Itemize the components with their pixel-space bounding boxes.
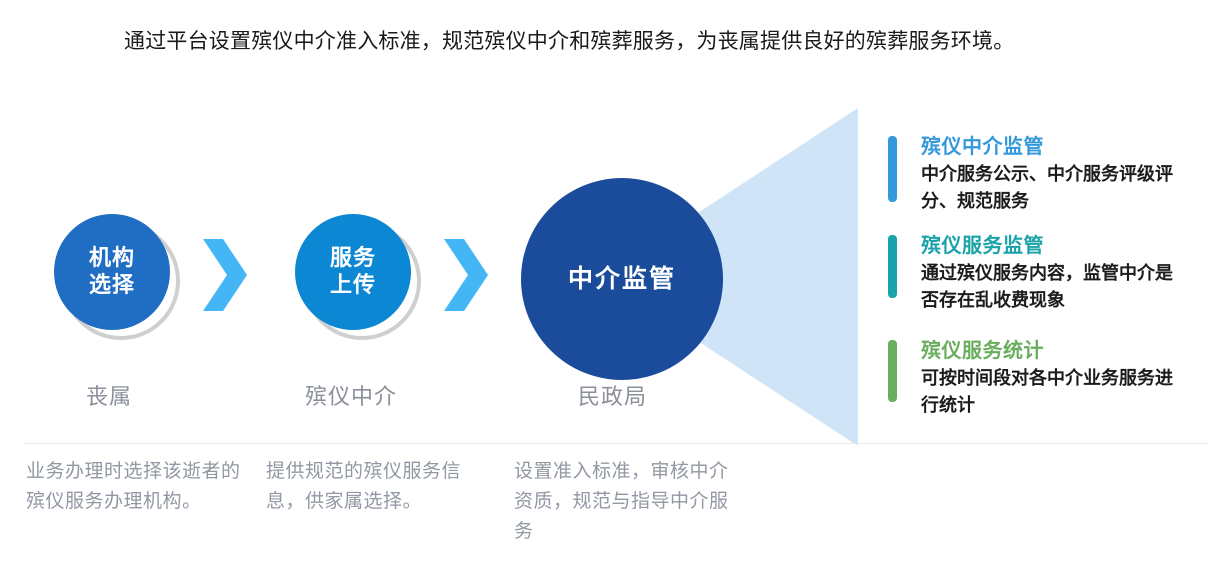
- role-label-bereaved: 丧属: [86, 379, 132, 411]
- feature-title: 殡仪服务统计: [921, 337, 1183, 363]
- role-label-funeral-agency: 殡仪中介: [305, 379, 397, 411]
- stage-circle-label-3: 中介监管: [568, 263, 676, 294]
- feature-accent-bar: [888, 235, 897, 298]
- stage-description-1: 业务办理时选择该逝者的殡仪服务办理机构。: [26, 456, 241, 516]
- feature-title: 殡仪中介监管: [921, 133, 1183, 159]
- feature-text: 可按时间段对各中介业务服务进行统计: [921, 365, 1183, 419]
- feature-title: 殡仪服务监管: [921, 232, 1183, 258]
- stage-circle-agency-supervision[interactable]: 中介监管: [521, 178, 723, 380]
- role-label-civil-affairs-bureau: 民政局: [578, 379, 647, 411]
- feature-text: 中介服务公示、中介服务评级评分、规范服务: [921, 161, 1183, 215]
- feature-item-service-statistics[interactable]: 殡仪服务统计 可按时间段对各中介业务服务进行统计: [888, 337, 1183, 419]
- stage-description-3: 设置准入标准，审核中介资质，规范与指导中介服务: [514, 456, 744, 546]
- horizontal-divider: [24, 443, 1209, 444]
- feature-item-service-supervision[interactable]: 殡仪服务监管 通过殡仪服务内容，监管中介是否存在乱收费现象: [888, 232, 1183, 314]
- diagram-canvas: 通过平台设置殡仪中介准入标准，规范殡仪中介和殡葬服务，为丧属提供良好的殡葬服务环…: [0, 0, 1228, 575]
- feature-text: 通过殡仪服务内容，监管中介是否存在乱收费现象: [921, 260, 1183, 314]
- stage-circle-label-1: 机构 选择: [89, 245, 135, 300]
- header-paragraph: 通过平台设置殡仪中介准入标准，规范殡仪中介和殡葬服务，为丧属提供良好的殡葬服务环…: [62, 24, 1212, 59]
- feature-accent-bar: [888, 136, 897, 202]
- stage-description-2: 提供规范的殡仪服务信息，供家属选择。: [266, 456, 481, 516]
- feature-accent-bar: [888, 340, 897, 402]
- feature-body: 殡仪服务统计 可按时间段对各中介业务服务进行统计: [921, 337, 1183, 419]
- chevron-right-icon: [203, 239, 247, 311]
- chevron-right-icon: [444, 239, 488, 311]
- stage-circle-service-upload[interactable]: 服务 上传: [295, 214, 411, 330]
- feature-body: 殡仪服务监管 通过殡仪服务内容，监管中介是否存在乱收费现象: [921, 232, 1183, 314]
- stage-circle-label-2: 服务 上传: [330, 245, 376, 300]
- stage-circle-organization-selection[interactable]: 机构 选择: [54, 214, 170, 330]
- feature-body: 殡仪中介监管 中介服务公示、中介服务评级评分、规范服务: [921, 133, 1183, 215]
- feature-item-agency-supervision[interactable]: 殡仪中介监管 中介服务公示、中介服务评级评分、规范服务: [888, 133, 1183, 215]
